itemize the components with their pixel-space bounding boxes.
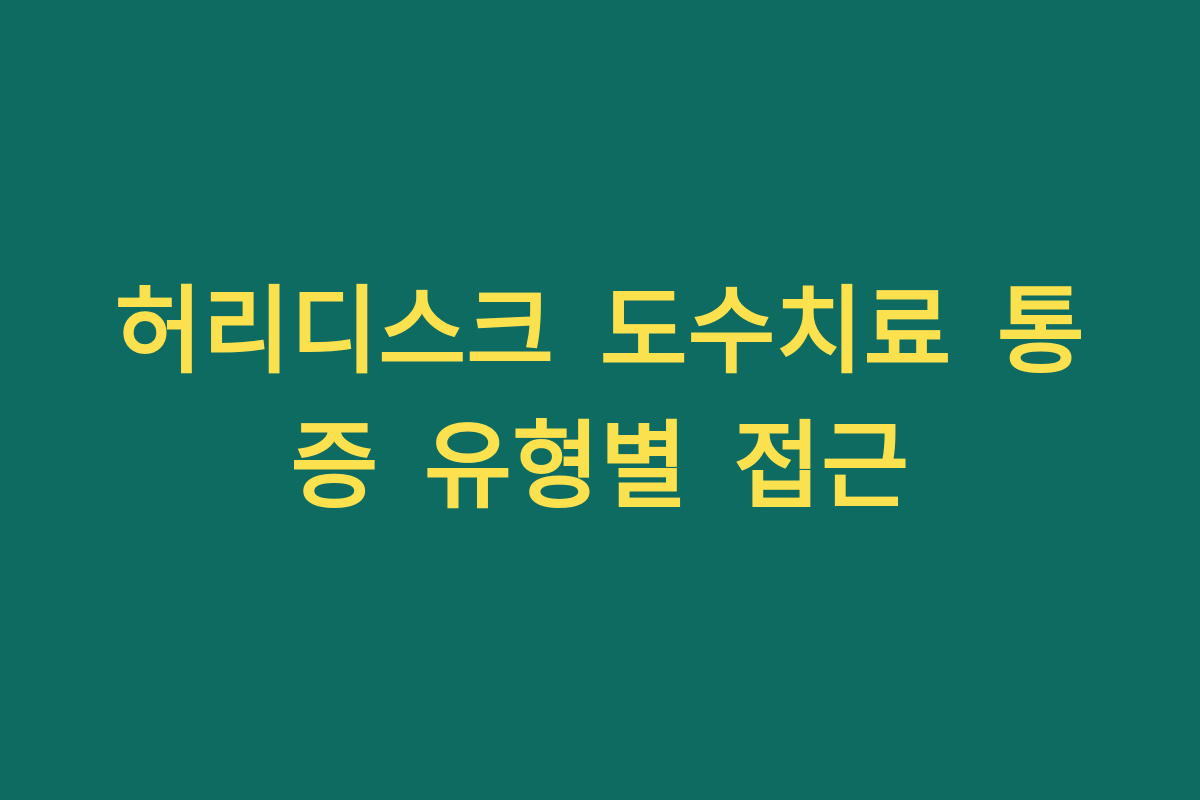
banner-container: 허리디스크 도수치료 통 증 유형별 접근 [0, 0, 1200, 800]
banner-headline: 허리디스크 도수치료 통 증 유형별 접근 [0, 265, 1200, 535]
